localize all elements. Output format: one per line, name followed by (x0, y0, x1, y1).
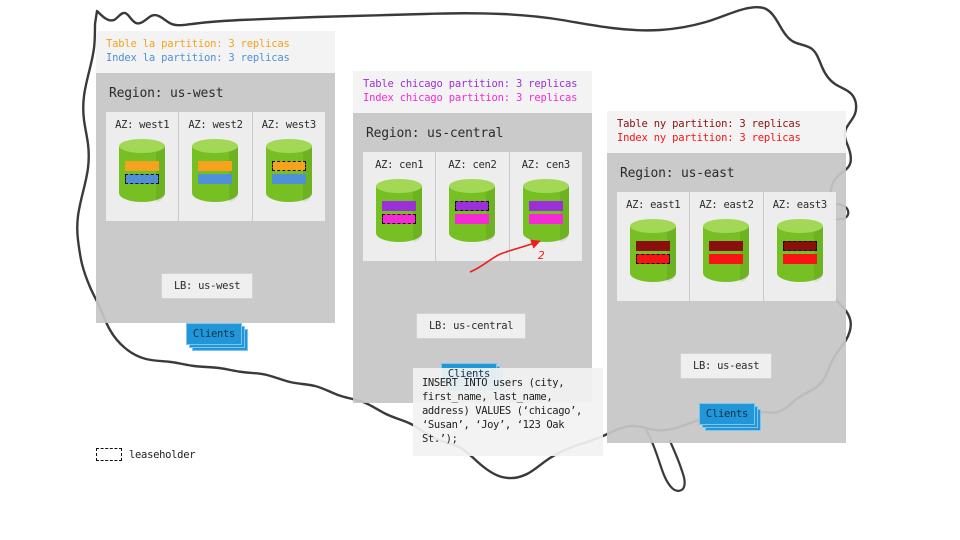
load-balancer-us-central[interactable]: LB: us-central (416, 313, 526, 339)
region-title: Region: us-west (109, 86, 325, 101)
az-label: AZ: cen3 (522, 159, 570, 171)
node-cylinder[interactable] (630, 219, 676, 289)
partition-header-us-west: Table la partition: 3 replicas Index la … (96, 31, 335, 73)
replica-bar-table-leaseholder (455, 201, 489, 211)
region-body-us-west: Region: us-west AZ: west1 AZ: west2 (96, 73, 335, 323)
replica-bar-index (783, 254, 817, 264)
clients-button-us-west[interactable]: Clients (186, 323, 242, 345)
cylinder-top (777, 219, 823, 233)
node-cylinder[interactable] (192, 139, 238, 209)
region-body-us-central: Region: us-central AZ: cen1 AZ: cen2 (353, 113, 592, 403)
legend: leaseholder (96, 448, 195, 461)
region-panel-us-west: Table la partition: 3 replicas Index la … (96, 31, 335, 323)
clients-button-us-east[interactable]: Clients (699, 403, 755, 425)
node-cylinder[interactable] (266, 139, 312, 209)
az-west1[interactable]: AZ: west1 (106, 112, 179, 221)
dashed-rect-icon (96, 448, 122, 461)
region-title: Region: us-central (366, 126, 582, 141)
cylinder-top (630, 219, 676, 233)
region-panel-us-central: Table chicago partition: 3 replicas Inde… (353, 71, 592, 403)
az-row: AZ: west1 AZ: west2 (106, 112, 325, 221)
clients-label: Clients (441, 363, 497, 385)
region-title: Region: us-east (620, 166, 836, 181)
partition-header-us-central: Table chicago partition: 3 replicas Inde… (353, 71, 592, 113)
az-label: AZ: east2 (699, 199, 753, 211)
load-balancer-us-east[interactable]: LB: us-east (680, 353, 772, 379)
node-cylinder[interactable] (777, 219, 823, 289)
az-row: AZ: cen1 AZ: cen2 (363, 152, 582, 261)
cylinder-top (119, 139, 165, 153)
load-balancer-us-west[interactable]: LB: us-west (161, 273, 253, 299)
replica-bar-index (455, 214, 489, 224)
az-cen2[interactable]: AZ: cen2 (436, 152, 509, 261)
replica-bar-table (125, 161, 159, 171)
replica-bar-index (198, 174, 232, 184)
replica-bar-index (709, 254, 743, 264)
region-body-us-east: Region: us-east AZ: east1 AZ: east2 (607, 153, 846, 443)
replica-bar-table-leaseholder (272, 161, 306, 171)
replica-bar-index-leaseholder (125, 174, 159, 184)
az-east1[interactable]: AZ: east1 (617, 192, 690, 301)
partition-line-index: Index chicago partition: 3 replicas (363, 92, 582, 106)
az-label: AZ: west1 (115, 119, 169, 131)
clients-label: Clients (699, 403, 755, 425)
node-cylinder[interactable] (523, 179, 569, 249)
partition-line-index: Index ny partition: 3 replicas (617, 132, 836, 146)
az-cen3[interactable]: AZ: cen3 (510, 152, 582, 261)
replica-bar-table-leaseholder (783, 241, 817, 251)
clients-button-us-central[interactable]: Clients (441, 363, 497, 385)
replica-bar-index-leaseholder (636, 254, 670, 264)
az-label: AZ: west3 (262, 119, 316, 131)
replica-bar-index (272, 174, 306, 184)
replica-bar-index-leaseholder (382, 214, 416, 224)
diagram-canvas: Table la partition: 3 replicas Index la … (0, 0, 960, 540)
replica-bar-table (529, 201, 563, 211)
node-cylinder[interactable] (376, 179, 422, 249)
node-cylinder[interactable] (449, 179, 495, 249)
az-west2[interactable]: AZ: west2 (179, 112, 252, 221)
node-cylinder[interactable] (119, 139, 165, 209)
partition-line-table: Table chicago partition: 3 replicas (363, 78, 582, 92)
partition-header-us-east: Table ny partition: 3 replicas Index ny … (607, 111, 846, 153)
az-label: AZ: east1 (626, 199, 680, 211)
az-row: AZ: east1 AZ: east2 (617, 192, 836, 301)
partition-line-table: Table la partition: 3 replicas (106, 38, 325, 52)
az-label: AZ: cen2 (448, 159, 496, 171)
cylinder-top (376, 179, 422, 193)
partition-line-table: Table ny partition: 3 replicas (617, 118, 836, 132)
az-label: AZ: cen1 (375, 159, 423, 171)
replica-bar-table (709, 241, 743, 251)
az-west3[interactable]: AZ: west3 (253, 112, 325, 221)
node-cylinder[interactable] (703, 219, 749, 289)
az-cen1[interactable]: AZ: cen1 (363, 152, 436, 261)
az-label: AZ: west2 (188, 119, 242, 131)
replica-bar-index (529, 214, 563, 224)
replica-bar-table (382, 201, 416, 211)
legend-label: leaseholder (129, 449, 195, 461)
replica-bar-table (636, 241, 670, 251)
replica-bar-table (198, 161, 232, 171)
az-east3[interactable]: AZ: east3 (764, 192, 836, 301)
cylinder-top (266, 139, 312, 153)
partition-line-index: Index la partition: 3 replicas (106, 52, 325, 66)
az-label: AZ: east3 (773, 199, 827, 211)
cylinder-top (523, 179, 569, 193)
clients-label: Clients (186, 323, 242, 345)
arrow-step-label: 2 (538, 249, 545, 262)
az-east2[interactable]: AZ: east2 (690, 192, 763, 301)
region-panel-us-east: Table ny partition: 3 replicas Index ny … (607, 111, 846, 443)
